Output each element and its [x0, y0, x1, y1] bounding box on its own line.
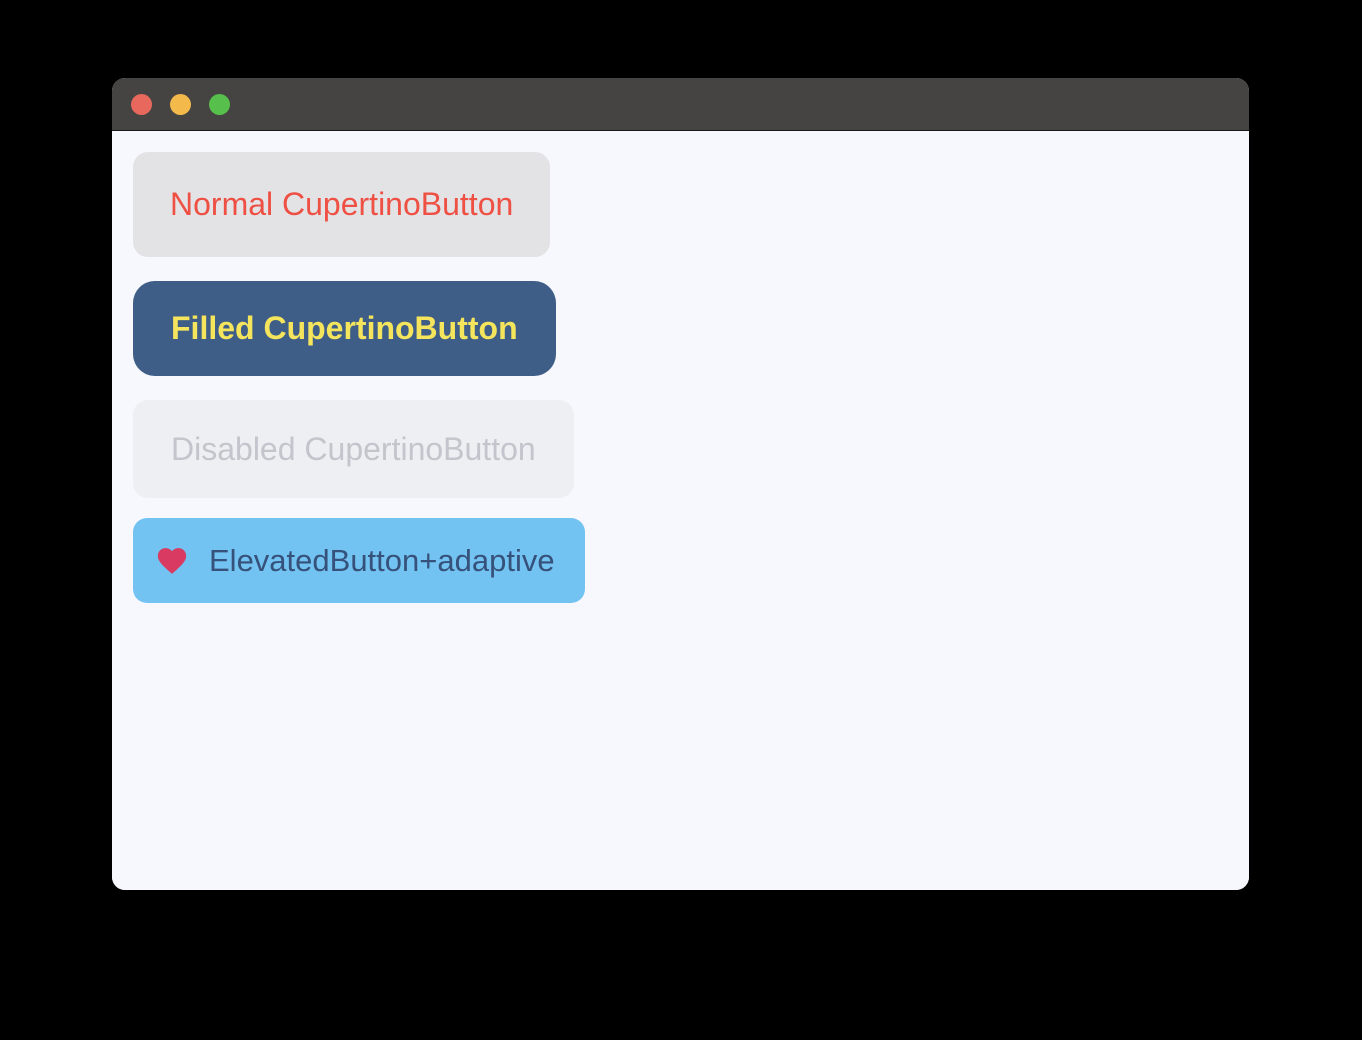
filled-cupertino-button[interactable]: Filled CupertinoButton: [133, 281, 556, 376]
normal-cupertino-button[interactable]: Normal CupertinoButton: [133, 152, 550, 257]
close-button[interactable]: [131, 94, 152, 115]
normal-cupertino-button-label: Normal CupertinoButton: [170, 186, 513, 223]
minimize-button[interactable]: [170, 94, 191, 115]
disabled-cupertino-button-label: Disabled CupertinoButton: [171, 431, 536, 468]
elevated-adaptive-button[interactable]: ElevatedButton+adaptive: [133, 518, 585, 603]
disabled-cupertino-button: Disabled CupertinoButton: [133, 400, 574, 498]
window-body: Normal CupertinoButton Filled CupertinoB…: [112, 131, 1249, 890]
window-controls: [131, 94, 230, 115]
window-titlebar[interactable]: [112, 78, 1249, 131]
heart-icon: [155, 544, 189, 578]
app-root: Normal CupertinoButton Filled CupertinoB…: [0, 0, 1362, 1040]
filled-cupertino-button-label: Filled CupertinoButton: [171, 310, 518, 347]
button-stack: Normal CupertinoButton Filled CupertinoB…: [133, 152, 1249, 603]
elevated-adaptive-button-label: ElevatedButton+adaptive: [209, 543, 555, 579]
maximize-button[interactable]: [209, 94, 230, 115]
app-window: Normal CupertinoButton Filled CupertinoB…: [112, 78, 1249, 890]
